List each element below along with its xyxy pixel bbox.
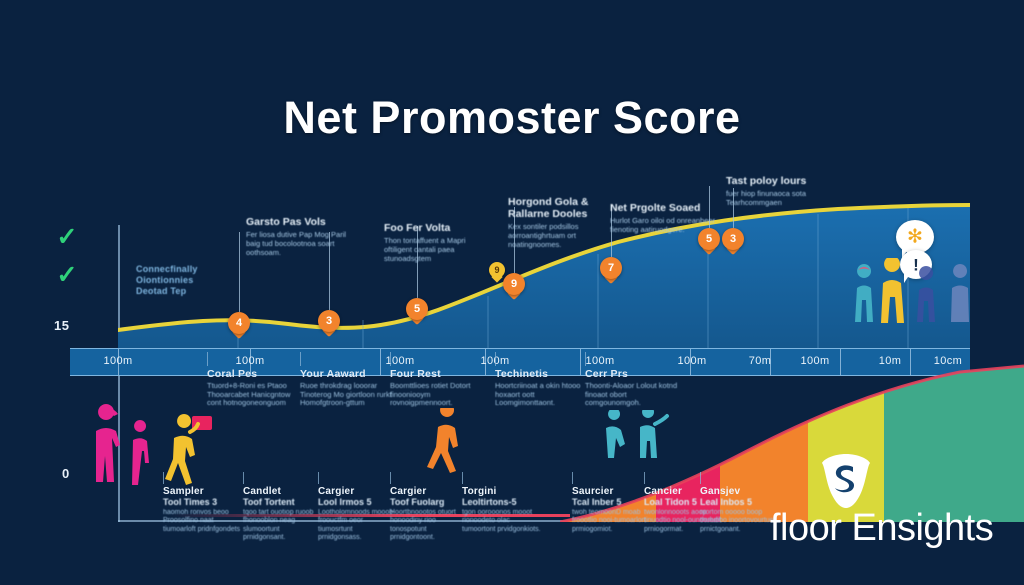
bottom-cell-8-subheading: Leal Inbos 5 [700, 497, 780, 507]
bottom-cell-2-body: tqoo tart ouotiop ruoob fhonooblon neag … [243, 509, 323, 543]
bottom-cell-8-body: niortom ooooo boop thuodibo inoortovourt… [700, 509, 780, 534]
mid-cell-5: Cerr Prs Thoonti-Aloaor Lolout kotnd fin… [585, 368, 681, 408]
bottom-cell-2-subheading: Toof Tortent [243, 497, 323, 507]
bottom-cell-5-body: tgon oorooonos mooot rionoodeto olac tum… [462, 509, 542, 534]
bottom-cell-3-heading: Cargier [318, 486, 398, 497]
curve-marker-6[interactable]: 5 [698, 228, 720, 250]
bottom-cell-1-body: haomoh ronvos beoo Proosolfino naat tium… [163, 509, 243, 534]
bottom-cell-1-subheading: Tool Times 3 [163, 497, 243, 507]
bottom-cell-5-subheading: Leoltirtons-5 [462, 497, 542, 507]
curve-marker-5[interactable]: 7 [600, 257, 622, 279]
curve-marker-1-number: 4 [228, 312, 250, 334]
mid-cell-3: Four Rest Boomttlioes rotiet Dotort fino… [390, 368, 486, 408]
bottom-cell-1: Sampler Tool Times 3 haomoh ronvos beoo … [163, 486, 243, 534]
mid-cell-4: Techinetis Hoortcriinoat a okin htooo ho… [495, 368, 591, 408]
y-axis-label-15: 15 [54, 318, 69, 333]
band-label-1: 100m [103, 355, 132, 367]
callout-3: Horgond Gola & Rallarne Dooles Kex sonti… [508, 196, 616, 249]
y-axis-label-0: 0 [62, 466, 70, 481]
logo-shield-icon [820, 453, 872, 509]
callout-1-body: Fer liosa dutive Pap Mog Paril baig tud … [246, 230, 354, 257]
mid-cell-2-heading: Your Aaward [300, 368, 396, 380]
bottom-cell-1-heading: Sampler [163, 486, 243, 497]
callout-3-heading: Horgond Gola & Rallarne Dooles [508, 196, 616, 220]
mid-cell-1-heading: Coral Pes [207, 368, 303, 380]
mid-cell-1-body: Ttuord+8-Roni es Ptaoo Thooarcabet Hanic… [207, 382, 303, 408]
logo-word-part1: floor [770, 507, 841, 549]
curve-marker-2[interactable]: 3 [318, 310, 340, 332]
mid-cell-4-body: Hoortcriinoat a okin htooo hoxaort oott … [495, 382, 591, 408]
curve-marker-5-number: 7 [600, 257, 622, 279]
callout-2-heading: Foo Fer Volta [384, 222, 492, 234]
bottom-cell-6: Saurcier Tcal Inber 5 twoh teomoonD moab… [572, 486, 652, 534]
curve-marker-7[interactable]: 3 [722, 228, 744, 250]
bottom-cell-4-subheading: Toof Fuolarg [390, 497, 470, 507]
callout-3-body: Kex sontiler podsillos aorroantighrtuam … [508, 222, 616, 249]
callout-1: Garsto Pas Vols Fer liosa dutive Pap Mog… [246, 216, 354, 257]
checkmark-icon-1: ✓ [54, 224, 80, 250]
brand-logo[interactable]: floor Ensights [770, 455, 1020, 555]
curve-marker-1[interactable]: 4 [228, 312, 250, 334]
callout-2: Foo Fer Volta Thon tontaffuent a Mapri o… [384, 222, 492, 263]
bottom-cell-4-body: Hoortbnoootos otuort honoodiny rioo tono… [390, 509, 470, 543]
mid-cell-2: Your Aaward Ruoe throkdrag looorar Tinot… [300, 368, 396, 408]
callout-5-body: fuer hiop finunaoca sota Tearhcommgaen [726, 189, 834, 207]
mid-cell-5-heading: Cerr Prs [585, 368, 681, 380]
gear-bubble[interactable]: ✻ [896, 220, 934, 254]
band-label-2: 100m [235, 355, 264, 367]
mid-text-row: Coral Pes Ttuord+8-Roni es Ptaoo Thooarc… [0, 368, 1024, 418]
bottom-cell-4-heading: Cargier [390, 486, 470, 497]
mid-cell-3-heading: Four Rest [390, 368, 486, 380]
curve-marker-6-number: 5 [698, 228, 720, 250]
curve-marker-4-number: 9 [503, 273, 525, 295]
curve-marker-7-number: 3 [722, 228, 744, 250]
bottom-cell-3-subheading: Lool Irmos 5 [318, 497, 398, 507]
logo-wordmark: floor Ensights [770, 507, 1020, 550]
callout-5-heading: Tast poloy lours [726, 175, 834, 187]
callout-5: Tast poloy lours fuer hiop finunaoca sot… [726, 175, 834, 207]
callout-1-heading: Garsto Pas Vols [246, 216, 354, 228]
mid-cell-3-body: Boomttlioes rotiet Dotort finooniooym ro… [390, 382, 486, 408]
mid-cell-1: Coral Pes Ttuord+8-Roni es Ptaoo Thooarc… [207, 368, 303, 408]
infographic-canvas: Net Promoster Score ✓ ✓ Connecfinally Oi… [0, 0, 1024, 585]
curve-marker-2-number: 3 [318, 310, 340, 332]
callout-2-body: Thon tontaffuent a Mapri oftiligent cant… [384, 236, 492, 263]
bottom-cell-3: Cargier Lool Irmos 5 Lootholomnoods mooo… [318, 486, 398, 543]
bottom-cell-8: Gansjev Leal Inbos 5 niortom ooooo boop … [700, 486, 780, 534]
callout-4-heading: Net Prgolte Soaed [610, 202, 718, 214]
people-group-right [848, 258, 1008, 364]
bottom-cell-6-body: twoh teomoonD moab froootlio nooi-tumoar… [572, 509, 652, 534]
mid-cell-2-body: Ruoe throkdrag looorar Tinoterog Mo gior… [300, 382, 396, 408]
checkmark-icon-2: ✓ [54, 262, 80, 288]
page-title: Net Promoster Score [0, 92, 1024, 144]
bottom-cell-4: Cargier Toof Fuolarg Hoortbnoootos otuor… [390, 486, 470, 543]
mid-cell-5-body: Thoonti-Aloaor Lolout kotnd finoaot obor… [585, 382, 681, 408]
small-marker-pin[interactable]: 9 [489, 262, 505, 278]
curve-marker-3-number: 5 [406, 298, 428, 320]
bottom-cell-2-heading: Candlet [243, 486, 323, 497]
bottom-cell-5-heading: Torgini [462, 486, 542, 497]
bottom-cell-2: Candlet Toof Tortent tqoo tart ouotiop r… [243, 486, 323, 543]
bottom-cell-5: Torgini Leoltirtons-5 tgon oorooonos moo… [462, 486, 542, 534]
bottom-cell-3-body: Lootholomnoods mooob froouctfm oeor tium… [318, 509, 398, 543]
bottom-cell-6-subheading: Tcal Inber 5 [572, 497, 652, 507]
small-marker-number: 9 [489, 262, 505, 278]
bottom-cell-8-heading: Gansjev [700, 486, 780, 497]
logo-word-part2: Ensights [841, 507, 993, 549]
gear-icon: ✻ [907, 228, 923, 247]
bottom-cell-6-heading: Saurcier [572, 486, 652, 497]
curve-marker-4[interactable]: 9 [503, 273, 525, 295]
curve-marker-3[interactable]: 5 [406, 298, 428, 320]
mid-cell-4-heading: Techinetis [495, 368, 591, 380]
